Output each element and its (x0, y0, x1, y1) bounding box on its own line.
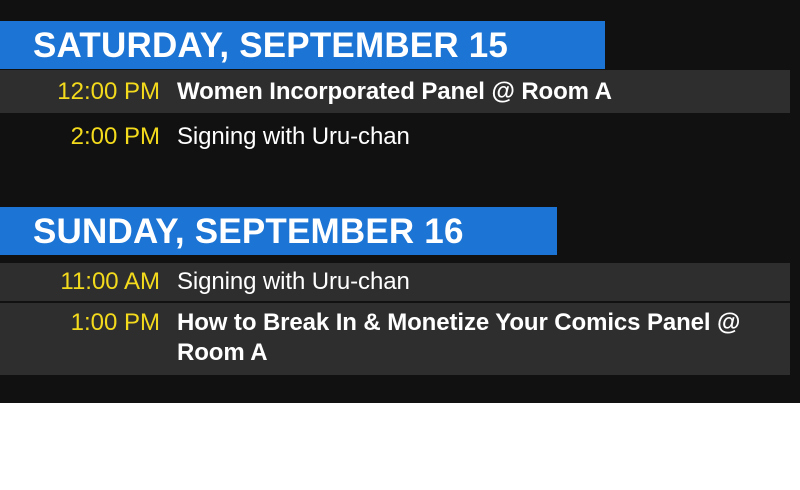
event-time: 1:00 PM (0, 308, 160, 338)
event-title: Signing with Uru-chan (177, 122, 410, 152)
event-time: 12:00 PM (0, 77, 160, 107)
day-header-saturday: SATURDAY, SEPTEMBER 15 (0, 21, 605, 69)
event-row[interactable]: 2:00 PM Signing with Uru-chan (0, 118, 790, 160)
schedule-root: SATURDAY, SEPTEMBER 15 12:00 PM Women In… (0, 0, 800, 490)
event-title: Women Incorporated Panel @ Room A (177, 77, 612, 107)
event-row[interactable]: 11:00 AM Signing with Uru-chan (0, 263, 790, 301)
day-header-label-sunday: SUNDAY, SEPTEMBER 16 (33, 214, 464, 249)
event-row[interactable]: 12:00 PM Women Incorporated Panel @ Room… (0, 70, 790, 113)
day-header-label-saturday: SATURDAY, SEPTEMBER 15 (33, 28, 508, 63)
day-header-sunday: SUNDAY, SEPTEMBER 16 (0, 207, 557, 255)
event-time: 11:00 AM (0, 267, 160, 297)
event-title: Signing with Uru-chan (177, 267, 410, 297)
bottom-whitespace (0, 403, 800, 490)
event-time: 2:00 PM (0, 122, 160, 152)
schedule-panel: SATURDAY, SEPTEMBER 15 12:00 PM Women In… (0, 0, 800, 403)
event-row[interactable]: 1:00 PM How to Break In & Monetize Your … (0, 303, 790, 375)
event-title: How to Break In & Monetize Your Comics P… (177, 308, 777, 368)
